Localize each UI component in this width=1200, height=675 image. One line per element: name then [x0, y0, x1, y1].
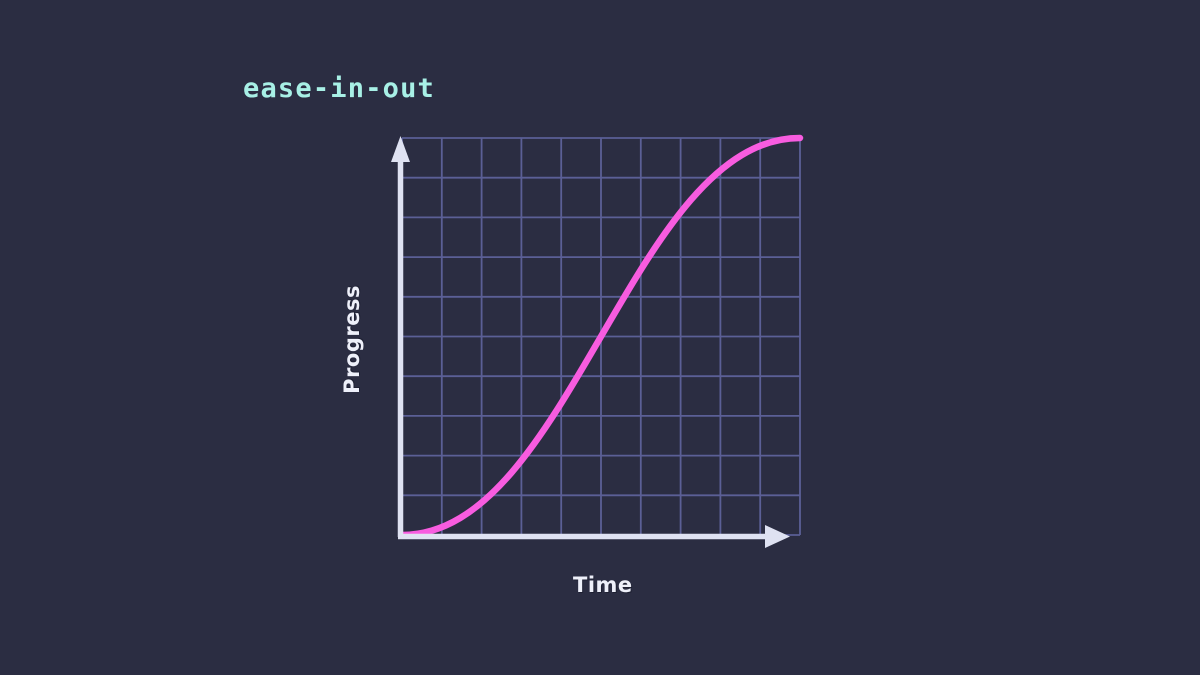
easing-chart-canvas: ease-in-out	[0, 0, 1200, 675]
axis-x	[398, 525, 790, 548]
y-axis-label: Progress	[340, 285, 364, 385]
y-axis-label-text: Progress	[340, 285, 364, 394]
x-axis-label: Time	[573, 575, 633, 596]
